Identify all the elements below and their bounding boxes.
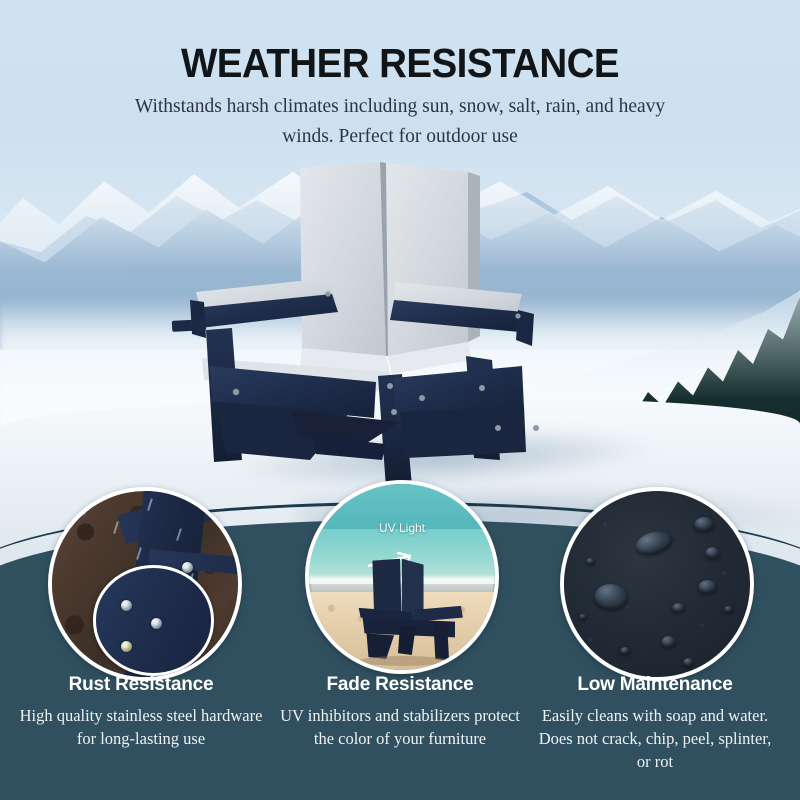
infographic-canvas: WEATHER RESISTANCE Withstands harsh clim… [0,0,800,800]
adirondack-chair-illustration [150,160,570,490]
feature-column-fade-resistance: Fade Resistance UV inhibitors and stabil… [277,674,523,750]
feature-column-rust-resistance: Rust Resistance High quality stainless s… [18,674,264,750]
chair-backrest [300,162,480,356]
feature-body: Easily cleans with soap and water. Does … [532,704,778,773]
feature-image-low-maintenance [560,487,754,681]
feature-image-fade-resistance: UV Light [305,480,499,674]
uv-light-label: UV Light [309,521,495,535]
magnified-screw-inset [93,565,214,675]
feature-body: UV inhibitors and stabilizers protect th… [277,704,523,750]
feature-heading: Rust Resistance [18,674,264,696]
feature-heading: Low Maintenance [532,674,778,696]
feature-heading: Fade Resistance [277,674,523,696]
surface-grain-texture [564,491,750,677]
feature-column-low-maintenance: Low Maintenance Easily cleans with soap … [532,674,778,773]
feature-image-rust-resistance [48,487,242,681]
feature-body: High quality stainless steel hardware fo… [18,704,264,750]
beach-chair-illustration [339,555,477,667]
page-subtitle: Withstands harsh climates including sun,… [120,92,680,152]
page-title: WEATHER RESISTANCE [24,40,776,87]
